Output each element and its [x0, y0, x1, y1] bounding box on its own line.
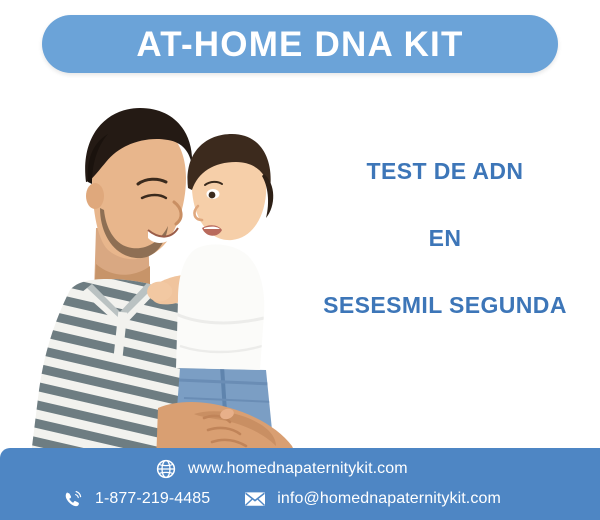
footer-website-row: www.homednapaternitykit.com [155, 458, 408, 480]
poster-title: AT-HOME DNA KIT [136, 27, 463, 62]
contact-footer: www.homednapaternitykit.com 1-877-219-44… [0, 448, 600, 520]
website-text[interactable]: www.homednapaternitykit.com [188, 461, 408, 477]
family-photo [8, 78, 318, 463]
phone-text[interactable]: 1-877-219-4485 [95, 491, 210, 507]
family-photo-illustration [8, 78, 318, 463]
headline-line-3: SESESMIL SEGUNDA [300, 294, 590, 317]
email-text[interactable]: info@homednapaternitykit.com [277, 491, 501, 507]
title-banner: AT-HOME DNA KIT [42, 15, 558, 73]
envelope-icon [244, 488, 266, 510]
globe-icon [155, 458, 177, 480]
phone-icon [62, 488, 84, 510]
headline-line-1: TEST DE ADN [300, 160, 590, 183]
headline-line-2: EN [300, 227, 590, 250]
poster-canvas: AT-HOME DNA KIT [0, 0, 600, 520]
footer-contact-row: 1-877-219-4485 info@homednapaternitykit.… [62, 488, 501, 510]
headline-block: TEST DE ADN EN SESESMIL SEGUNDA [300, 160, 590, 317]
